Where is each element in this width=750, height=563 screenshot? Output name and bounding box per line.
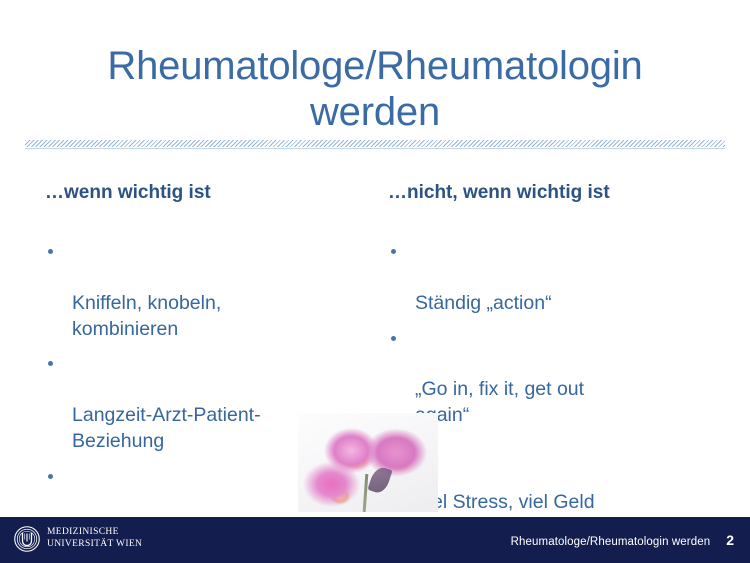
- list-item-label: „Go in, fix it, get out again“: [415, 378, 584, 426]
- footer-right-group: Rheumatologe/Rheumatologin werden 2: [511, 532, 734, 548]
- bullet-dot-icon: [391, 249, 396, 254]
- presentation-slide: Rheumatologe/Rheumatologin werden …wenn …: [0, 0, 750, 563]
- divider-hatch-pattern: [25, 140, 725, 147]
- list-item: Kniffeln, knobeln, kombinieren: [45, 239, 365, 343]
- list-item-label: Kniffeln, knobeln, kombinieren: [72, 292, 221, 340]
- bullet-dot-icon: [48, 361, 53, 366]
- column-left-heading: …wenn wichtig ist: [45, 182, 365, 205]
- divider-rule: [25, 148, 725, 149]
- orchid-photo: [298, 413, 438, 512]
- page-number: 2: [726, 532, 734, 548]
- bullet-dot-icon: [48, 249, 53, 254]
- meduni-wien-wordmark: MEDIZINISCHE UNIVERSITÄT WIEN: [47, 527, 142, 550]
- logo-line-2: UNIVERSITÄT WIEN: [47, 539, 142, 551]
- list-item: Ständig „action“: [388, 239, 718, 317]
- title-divider: [25, 140, 725, 149]
- column-right-heading: …nicht, wenn wichtig ist: [388, 182, 718, 205]
- column-left-bullet-list: Kniffeln, knobeln, kombinieren Langzeit-…: [45, 239, 365, 563]
- logo-line-1: MEDIZINISCHE: [47, 527, 142, 539]
- orchid-stem: [362, 474, 368, 512]
- footer-caption: Rheumatologe/Rheumatologin werden: [511, 536, 711, 548]
- meduni-wien-emblem-icon: [14, 526, 40, 552]
- bullet-dot-icon: [48, 474, 53, 479]
- slide-title: Rheumatologe/Rheumatologin werden: [40, 43, 710, 136]
- meduni-wien-logo: MEDIZINISCHE UNIVERSITÄT WIEN: [14, 526, 142, 552]
- list-item-label: Ständig „action“: [415, 292, 552, 314]
- footer-bar: MEDIZINISCHE UNIVERSITÄT WIEN Rheumatolo…: [0, 517, 750, 563]
- list-item-label: Viel Stress, viel Geld: [415, 491, 595, 513]
- bullet-dot-icon: [391, 336, 396, 341]
- list-item-label: Langzeit-Arzt-Patient- Beziehung: [72, 404, 261, 452]
- orchid-leaf: [367, 465, 392, 495]
